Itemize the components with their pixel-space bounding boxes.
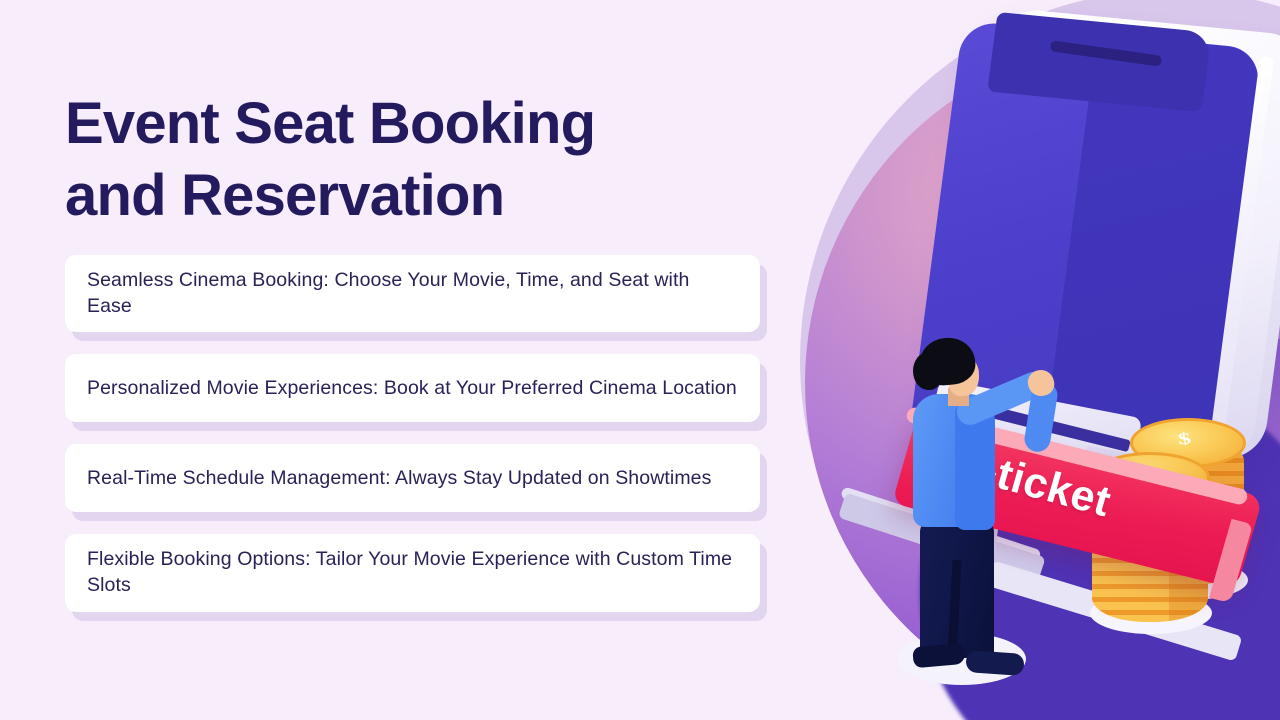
feature-card[interactable]: Seamless Cinema Booking: Choose Your Mov…	[65, 255, 760, 332]
feature-card[interactable]: Personalized Movie Experiences: Book at …	[65, 354, 760, 422]
page-title-line-1: Event Seat Booking	[65, 91, 595, 156]
feature-card-text: Seamless Cinema Booking: Choose Your Mov…	[87, 268, 738, 319]
page-title: Event Seat Booking and Reservation	[65, 88, 765, 232]
feature-card-list: Seamless Cinema Booking: Choose Your Mov…	[65, 255, 765, 634]
feature-card-text: Flexible Booking Options: Tailor Your Mo…	[87, 547, 738, 598]
person-shoe-right	[965, 650, 1024, 676]
page-title-line-2: and Reservation	[65, 163, 504, 228]
illustration-panel: $ $ e-ticket	[780, 0, 1280, 720]
feature-card-text: Real-Time Schedule Management: Always St…	[87, 466, 711, 492]
content-panel: Event Seat Booking and Reservation Seaml…	[0, 0, 800, 720]
feature-card[interactable]: Flexible Booking Options: Tailor Your Mo…	[65, 534, 760, 611]
feature-card[interactable]: Real-Time Schedule Management: Always St…	[65, 444, 760, 512]
person-torso-shading	[955, 406, 995, 530]
feature-card-text: Personalized Movie Experiences: Book at …	[87, 376, 737, 402]
